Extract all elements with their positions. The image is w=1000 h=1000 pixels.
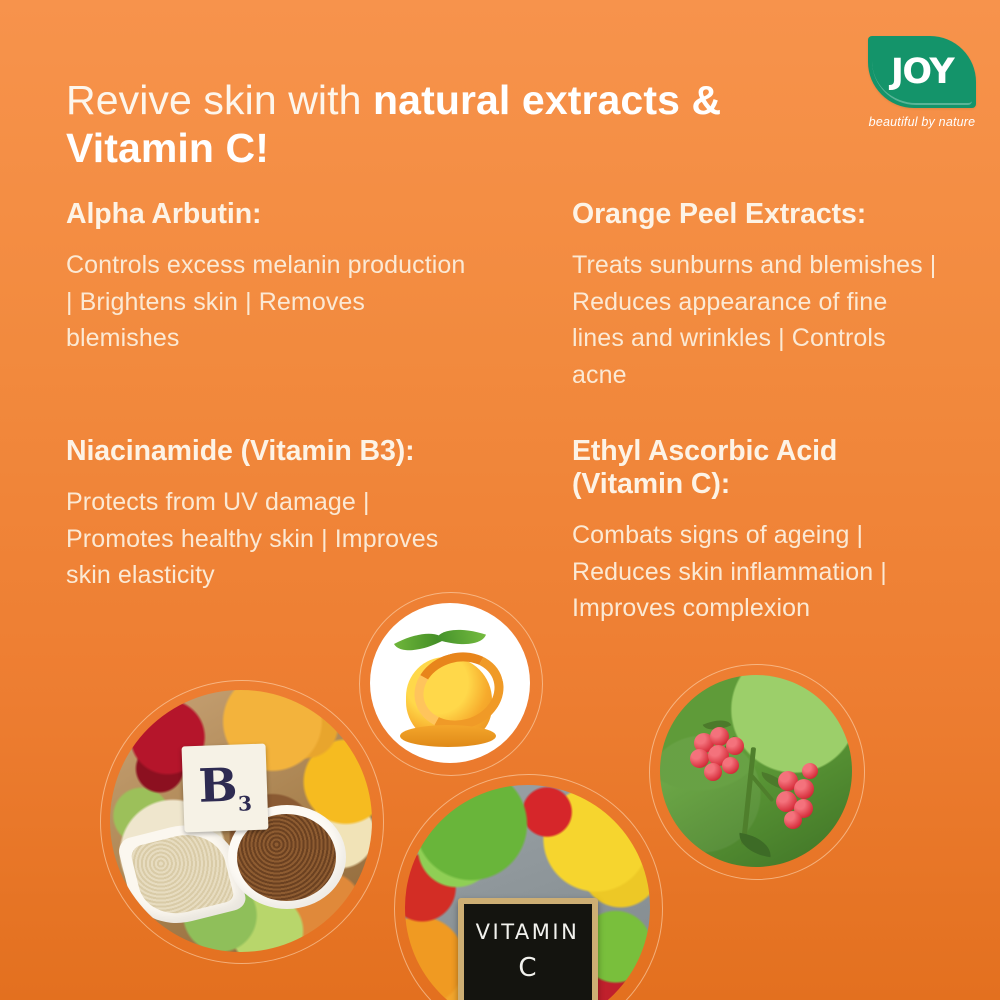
berry-icon	[726, 737, 744, 755]
features-grid: Alpha Arbutin: Controls excess melanin p…	[0, 198, 1000, 627]
feature-body: Protects from UV damage | Promotes healt…	[66, 484, 472, 594]
grain-bowl-icon	[116, 814, 248, 934]
feature-orange-peel-extracts: Orange Peel Extracts: Treats sunburns an…	[488, 198, 958, 393]
image-bearberries	[660, 675, 852, 867]
b3-card-letter: B	[198, 758, 239, 813]
brand-logo-word: JOY	[891, 55, 953, 90]
image-vitamin-c-foods: VITAMIN C	[405, 785, 650, 1000]
feature-heading: Alpha Arbutin:	[66, 198, 472, 231]
berry-icon	[802, 763, 818, 779]
berry-icon	[794, 779, 814, 799]
berry-icon	[704, 763, 722, 781]
image-orange-peel	[370, 603, 530, 763]
orange-peel-base-icon	[400, 725, 496, 747]
b3-card-subscript: 3	[238, 791, 253, 815]
orange-leaf-icon	[394, 622, 444, 661]
features-row-2: Niacinamide (Vitamin B3): Protects from …	[0, 435, 1000, 627]
brand-tagline: beautiful by nature	[862, 115, 982, 129]
berry-stem-icon	[741, 747, 756, 845]
feature-heading: Ethyl Ascorbic Acid (Vitamin C):	[572, 435, 938, 501]
berry-icon	[784, 811, 802, 829]
b3-label-card: B3	[182, 744, 269, 833]
leaf-icon: JOY	[868, 36, 976, 108]
vitamin-c-chalkboard: VITAMIN C	[458, 898, 598, 1000]
feature-body: Treats sunburns and blemishes | Reduces …	[572, 247, 938, 393]
feature-heading: Niacinamide (Vitamin B3):	[66, 435, 472, 468]
berry-icon	[722, 757, 739, 774]
chalkboard-line-1: VITAMIN	[476, 922, 580, 943]
feature-body: Controls excess melanin production | Bri…	[66, 247, 472, 357]
chalkboard-line-2: C	[518, 955, 536, 981]
feature-ethyl-ascorbic-acid: Ethyl Ascorbic Acid (Vitamin C): Combats…	[488, 435, 958, 627]
feature-body: Combats signs of ageing | Reduces skin i…	[572, 517, 938, 627]
feature-heading: Orange Peel Extracts:	[572, 198, 938, 231]
image-b3-foods: B3	[110, 690, 372, 952]
brand-logo: JOY beautiful by nature	[862, 36, 982, 140]
promo-poster: JOY beautiful by nature Revive skin with…	[0, 0, 1000, 1000]
feature-alpha-arbutin: Alpha Arbutin: Controls excess melanin p…	[0, 198, 488, 393]
feature-niacinamide: Niacinamide (Vitamin B3): Protects from …	[0, 435, 488, 627]
page-title: Revive skin with natural extracts & Vita…	[66, 76, 866, 173]
orange-leaf-icon	[436, 620, 486, 653]
features-row-1: Alpha Arbutin: Controls excess melanin p…	[0, 198, 1000, 393]
berry-leaf-icon	[737, 833, 773, 858]
title-light-part: Revive skin with	[66, 77, 373, 123]
